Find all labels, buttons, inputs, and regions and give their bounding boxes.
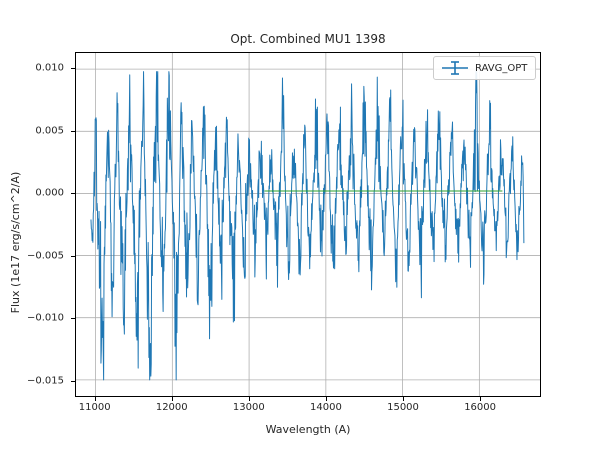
y-tick-label: 0.010 <box>35 63 64 74</box>
legend[interactable]: RAVG_OPT <box>433 56 536 80</box>
x-tick-label: 12000 <box>156 402 188 413</box>
x-tick-label: 14000 <box>310 402 342 413</box>
x-axis-label: Wavelength (A) <box>75 423 541 436</box>
y-tick-label: −0.005 <box>27 250 64 261</box>
x-tick-label: 16000 <box>464 402 496 413</box>
x-tick-label: 11000 <box>79 402 111 413</box>
data-series-layer <box>76 53 540 396</box>
x-tick-mark <box>95 397 96 401</box>
x-tick-mark <box>480 397 481 401</box>
y-tick-label: −0.015 <box>27 375 64 386</box>
plot-area <box>75 52 541 397</box>
matplotlib-figure: Opt. Combined MU1 1398 Flux (1e17 erg/s/… <box>0 0 600 450</box>
x-tick-mark <box>172 397 173 401</box>
y-axis-tick-labels: 0.0100.0050.000−0.005−0.010−0.015 <box>0 52 64 397</box>
y-tick-label: 0.000 <box>35 188 64 199</box>
chart-title: Opt. Combined MU1 1398 <box>75 32 541 46</box>
x-tick-mark <box>326 397 327 401</box>
x-tick-label: 13000 <box>233 402 265 413</box>
errorbar-plus-icon <box>442 61 468 75</box>
series-line-RAVG_OPT <box>91 72 524 380</box>
y-tick-label: 0.005 <box>35 125 64 136</box>
x-tick-mark <box>403 397 404 401</box>
legend-label-ravg-opt: RAVG_OPT <box>475 63 527 74</box>
x-tick-label: 15000 <box>387 402 419 413</box>
x-tick-mark <box>249 397 250 401</box>
y-tick-label: −0.010 <box>27 313 64 324</box>
